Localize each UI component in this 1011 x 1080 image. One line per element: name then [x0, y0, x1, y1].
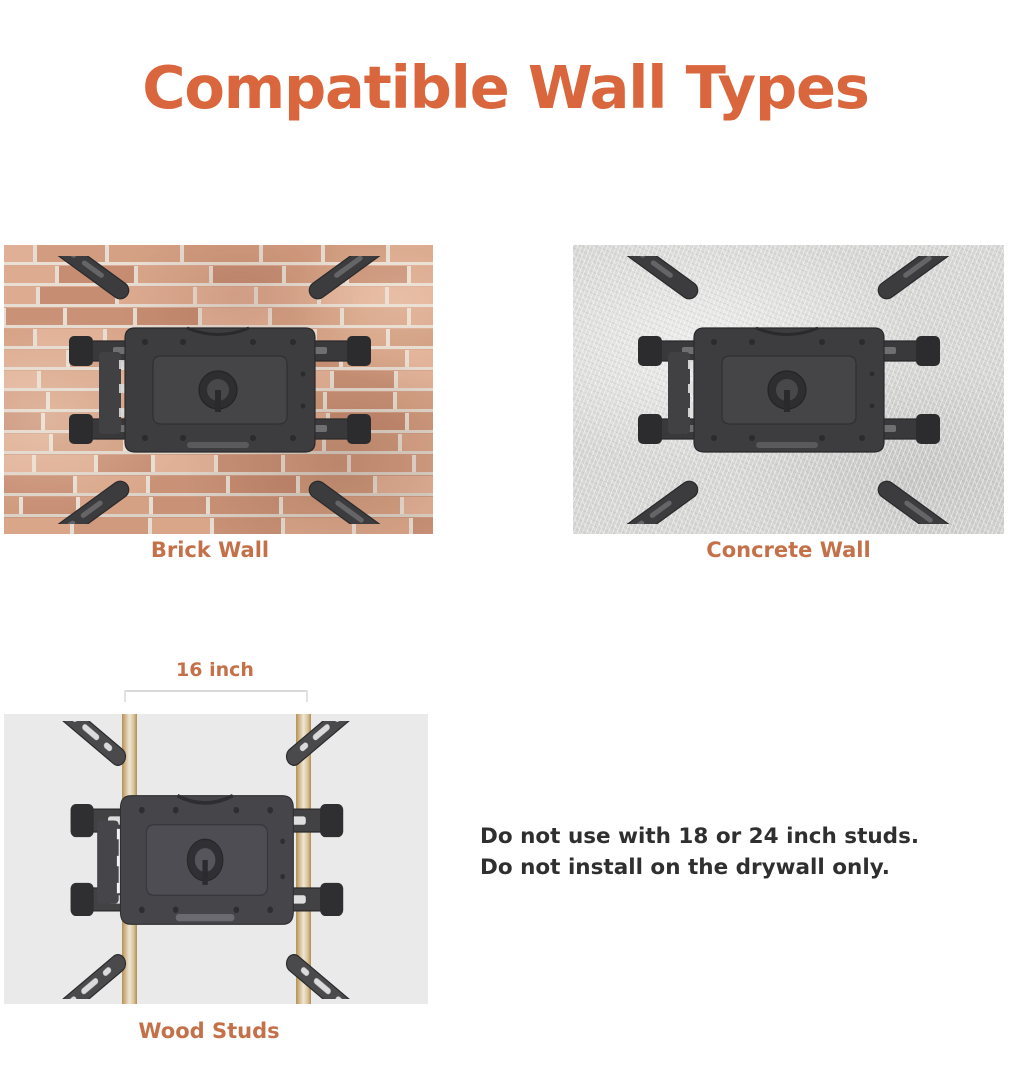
tv-mount-wood-studs	[26, 721, 386, 999]
tv-mount-brick	[17, 256, 421, 524]
caption-brick-wall: Brick Wall	[0, 538, 420, 562]
caption-concrete-wall: Concrete Wall	[573, 538, 1004, 562]
concrete-wall-panel	[573, 245, 1004, 534]
wood-studs-panel	[4, 714, 428, 1004]
stud-spacing-label: 16 inch	[120, 659, 310, 681]
dimension-line	[124, 690, 308, 692]
caption-wood-studs: Wood Studs	[0, 1019, 418, 1043]
brick-wall-panel	[4, 245, 433, 534]
warning-line-1: Do not use with 18 or 24 inch studs.	[480, 822, 919, 853]
tv-mount-concrete	[586, 256, 990, 524]
page-title: Compatible Wall Types	[0, 58, 1011, 117]
warning-text: Do not use with 18 or 24 inch studs. Do …	[480, 822, 919, 883]
dimension-tick-left	[124, 690, 126, 702]
warning-line-2: Do not install on the drywall only.	[480, 853, 919, 884]
dimension-tick-right	[306, 690, 308, 702]
